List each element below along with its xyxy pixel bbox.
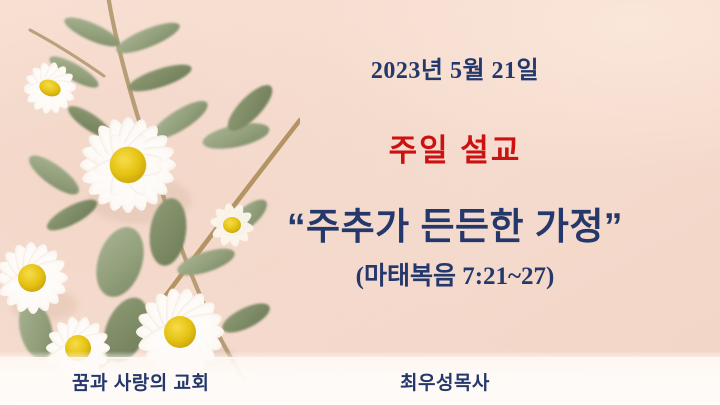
pastor-name: 최우성목사 [400, 368, 490, 395]
eucalyptus-leaves-upper [46, 12, 279, 154]
sermon-title: “주추가 든든한 가정” [225, 196, 685, 250]
footer-content: 꿈과 사랑의 교회 최우성목사 [0, 357, 720, 405]
scripture-reference: (마태복음 7:21~27) [255, 256, 655, 292]
church-name: 꿈과 사랑의 교회 [72, 368, 209, 395]
service-date: 2023년 5월 21일 [255, 50, 655, 85]
sermon-kicker: 주일 설교 [255, 125, 655, 170]
sermon-slide: 2023년 5월 21일 주일 설교 “주추가 든든한 가정” (마태복음 7:… [0, 0, 720, 405]
sermon-text-block: 2023년 5월 21일 주일 설교 “주추가 든든한 가정” (마태복음 7:… [255, 0, 655, 352]
footer-band: 꿈과 사랑의 교회 최우성목사 [0, 357, 720, 405]
